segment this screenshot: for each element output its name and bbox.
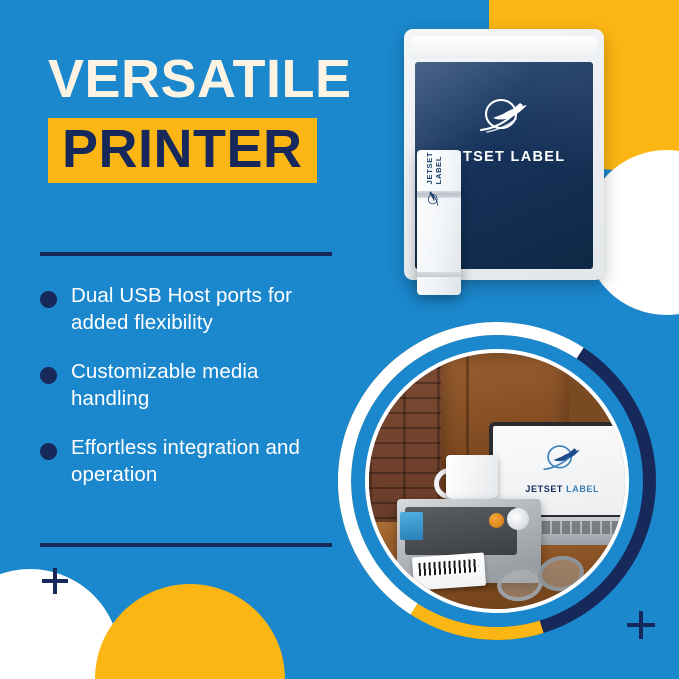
printer-display-screen [400,512,423,540]
feature-text: Effortless integration and operation [71,434,340,488]
laptop-brand-text: JETSET LABEL [525,484,599,494]
desk-scene-photo: JETSET LABEL [369,353,625,609]
divider-bottom [40,543,332,547]
coffee-mug [446,455,498,499]
bullet-dot-icon [40,291,57,308]
list-item: Dual USB Host ports for added flexibilit… [40,282,340,336]
product-shot: JETSET LABEL JETSET LABEL [404,29,604,280]
decor-yellow-circle-bottomleft [95,584,285,679]
jet-swoosh-logo-icon [538,443,586,477]
divider-top [40,252,332,256]
jet-swoosh-logo-icon [473,96,535,140]
product-box-top-edge [411,36,597,58]
printer-media-roll [507,508,529,530]
usb-brand-text: JETSET LABEL [425,150,443,184]
usb-branding: JETSET LABEL [425,150,443,208]
poster-canvas: VERSATILE PRINTER Dual USB Host ports fo… [0,0,679,679]
bullet-dot-icon [40,367,57,384]
plus-icon-left [42,568,68,594]
headline-highlight-block: PRINTER [48,118,317,183]
headline-line-1: VERSATILE [48,52,348,106]
feature-text: Dual USB Host ports for added flexibilit… [71,282,340,336]
laptop-brand-part2: LABEL [566,484,599,494]
photo-module: JETSET LABEL [338,322,656,640]
headline-line-2: PRINTER [62,122,303,176]
headline-block: VERSATILE PRINTER [48,52,348,183]
printed-label-strip [411,553,485,591]
jet-swoosh-logo-icon [425,188,443,208]
usb-base-seam [417,272,461,277]
bullet-dot-icon [40,443,57,460]
list-item: Effortless integration and operation [40,434,340,488]
barcode [418,559,479,576]
list-item: Customizable media handling [40,358,340,412]
feature-list: Dual USB Host ports for added flexibilit… [40,282,340,510]
laptop-brand-part1: JETSET [525,484,563,494]
laptop-branding: JETSET LABEL [525,443,599,494]
feature-text: Customizable media handling [71,358,340,412]
usb-flash-drive: JETSET LABEL [417,150,461,295]
